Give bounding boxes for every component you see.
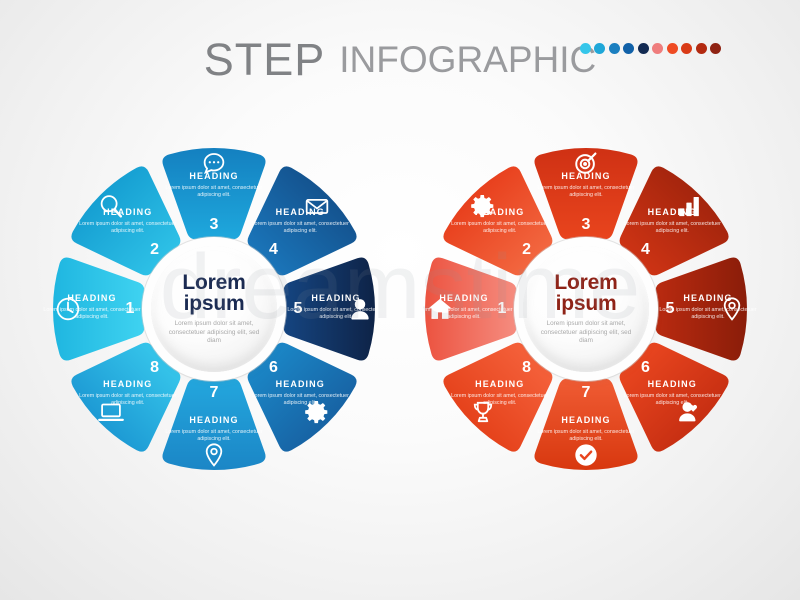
title-dot-7 bbox=[667, 43, 678, 54]
wheel-red-hub: Loremipsum Lorem ipsum dolor sit amet, c… bbox=[523, 246, 649, 372]
envelope-icon bbox=[302, 191, 332, 221]
wheel-right-segment-4[interactable] bbox=[620, 166, 729, 275]
segment-number-left-5: 5 bbox=[285, 300, 311, 318]
title-dot-10 bbox=[710, 43, 721, 54]
wheel-blue-hub: Loremipsum Lorem ipsum dolor sit amet, c… bbox=[151, 246, 277, 372]
gear-icon bbox=[468, 191, 498, 221]
wheel-right-segment-2[interactable] bbox=[443, 166, 552, 275]
segment-number-left-2: 2 bbox=[142, 241, 168, 259]
bar-chart-icon bbox=[674, 191, 704, 221]
segment-number-right-4: 4 bbox=[632, 241, 658, 259]
segment-number-right-2: 2 bbox=[514, 241, 540, 259]
segment-number-right-6: 6 bbox=[632, 359, 658, 377]
title-dot-4 bbox=[623, 43, 634, 54]
target-icon bbox=[571, 148, 601, 178]
title-dot-3 bbox=[609, 43, 620, 54]
wheel-red: HEADINGLorem ipsum dolor sit amet, conse… bbox=[425, 148, 747, 470]
user-icon bbox=[345, 294, 375, 324]
infographic-canvas: STEPINFOGRAPHIC HEADINGLorem ipsum dolor… bbox=[0, 0, 800, 600]
segment-number-right-8: 8 bbox=[514, 359, 540, 377]
segment-number-left-6: 6 bbox=[260, 359, 286, 377]
segment-number-right-1: 1 bbox=[489, 300, 515, 318]
title-dot-5 bbox=[638, 43, 649, 54]
title-dot-2 bbox=[594, 43, 605, 54]
hub-title: Loremipsum bbox=[554, 272, 617, 314]
segment-number-left-7: 7 bbox=[201, 384, 227, 402]
title-primary: STEP bbox=[204, 34, 326, 85]
pin-icon bbox=[717, 294, 747, 324]
pin-icon bbox=[199, 440, 229, 470]
clock-icon bbox=[53, 294, 83, 324]
segment-number-right-7: 7 bbox=[573, 384, 599, 402]
title-dot-1 bbox=[580, 43, 591, 54]
segment-number-left-3: 3 bbox=[201, 216, 227, 234]
segment-number-left-4: 4 bbox=[260, 241, 286, 259]
page-title: STEPINFOGRAPHIC bbox=[0, 34, 800, 86]
trophy-icon bbox=[468, 397, 498, 427]
laptop-icon bbox=[96, 397, 126, 427]
hub-title: Loremipsum bbox=[182, 272, 245, 314]
title-dot-9 bbox=[696, 43, 707, 54]
segment-number-right-5: 5 bbox=[657, 300, 683, 318]
search-icon bbox=[96, 191, 126, 221]
check-icon bbox=[571, 440, 601, 470]
title-secondary: INFOGRAPHIC bbox=[339, 39, 596, 80]
segment-number-right-3: 3 bbox=[573, 216, 599, 234]
title-dot-8 bbox=[681, 43, 692, 54]
title-dot-row bbox=[580, 43, 722, 54]
wheel-left-segment-2[interactable] bbox=[71, 166, 180, 275]
user-heart-icon bbox=[674, 397, 704, 427]
hub-subtitle: Lorem ipsum dolor sit amet, consectetuer… bbox=[540, 320, 632, 345]
segment-number-left-8: 8 bbox=[142, 359, 168, 377]
home-icon bbox=[425, 294, 455, 324]
gear-icon bbox=[302, 397, 332, 427]
wheel-left-segment-4[interactable] bbox=[248, 166, 357, 275]
chat-icon bbox=[199, 148, 229, 178]
segment-number-left-1: 1 bbox=[117, 300, 143, 318]
wheel-blue: HEADINGLorem ipsum dolor sit amet, conse… bbox=[53, 148, 375, 470]
title-dot-6 bbox=[652, 43, 663, 54]
hub-subtitle: Lorem ipsum dolor sit amet, consectetuer… bbox=[168, 320, 260, 345]
